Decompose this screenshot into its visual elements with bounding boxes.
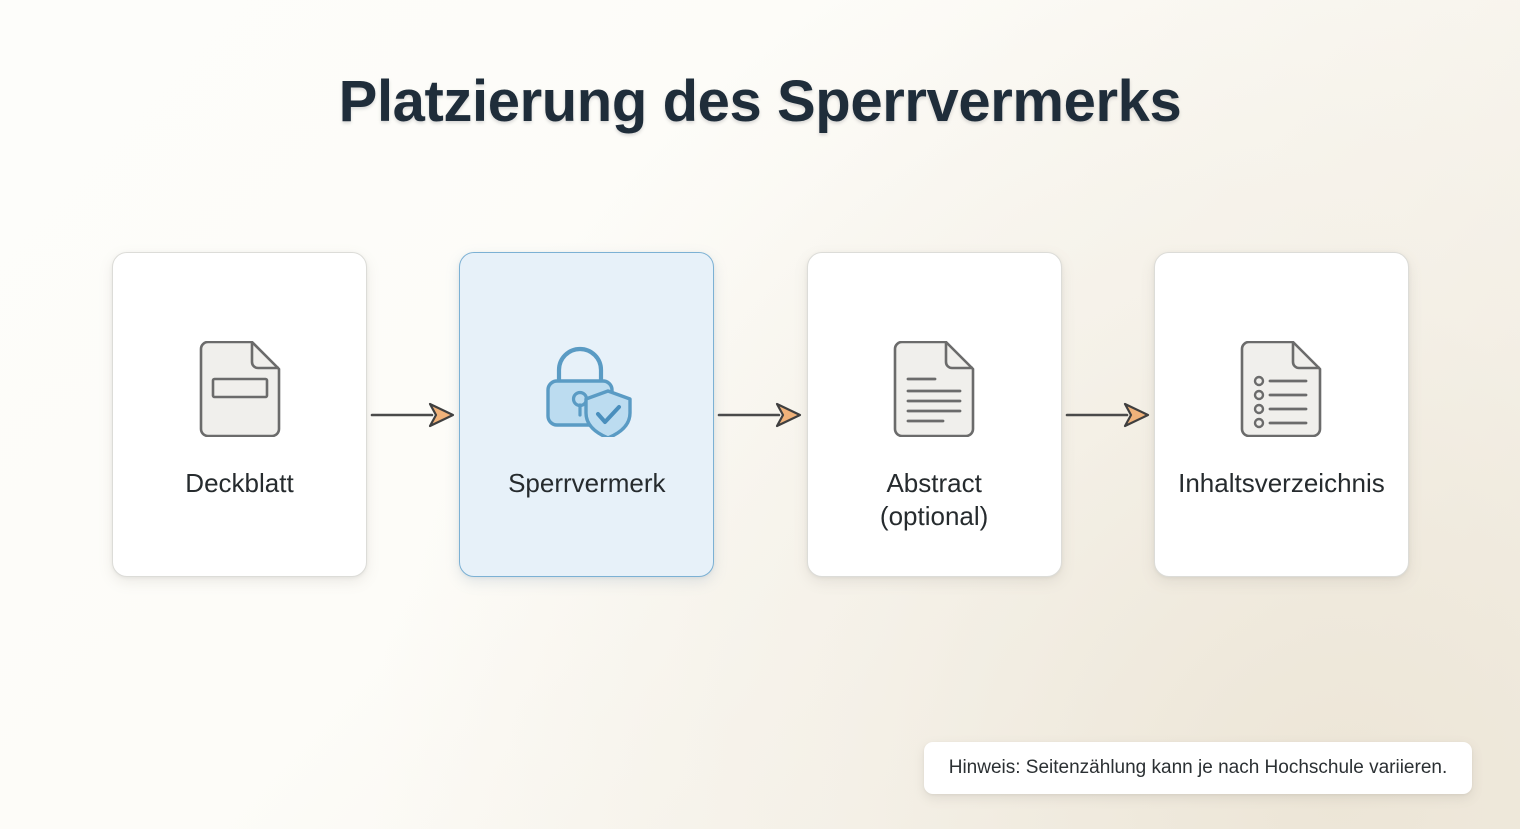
- flow-card-label: Deckblatt: [177, 467, 301, 500]
- page-title: Platzierung des Sperrvermerks: [0, 68, 1520, 135]
- document-text-lines-icon: [891, 341, 977, 437]
- arrow-right-icon: [1062, 401, 1154, 429]
- arrow-right-icon: [714, 401, 806, 429]
- lock-shield-check-icon: [540, 341, 634, 437]
- flow-card-deckblatt[interactable]: Deckblatt: [112, 252, 367, 577]
- note-callout: Hinweis: Seitenzählung kann je nach Hoch…: [924, 742, 1472, 794]
- flow-card-label: Inhaltsverzeichnis: [1170, 467, 1393, 500]
- slide-canvas: Platzierung des Sperrvermerks Deckblatt: [0, 0, 1520, 829]
- document-title-page-icon: [197, 341, 283, 437]
- flow-card-label: Sperrvermerk: [500, 467, 673, 500]
- flow-card-sperrvermerk[interactable]: Sperrvermerk: [459, 252, 714, 577]
- flow-card-inhaltsverzeichnis[interactable]: Inhaltsverzeichnis: [1154, 252, 1409, 577]
- note-text: Hinweis: Seitenzählung kann je nach Hoch…: [949, 757, 1448, 779]
- arrow-right-icon: [367, 401, 459, 429]
- flow-card-abstract[interactable]: Abstract (optional): [807, 252, 1062, 577]
- document-bullet-list-icon: [1238, 341, 1324, 437]
- flow-card-label: Abstract (optional): [872, 467, 996, 533]
- process-flow: Deckblatt Sperrvermerk: [112, 252, 1409, 577]
